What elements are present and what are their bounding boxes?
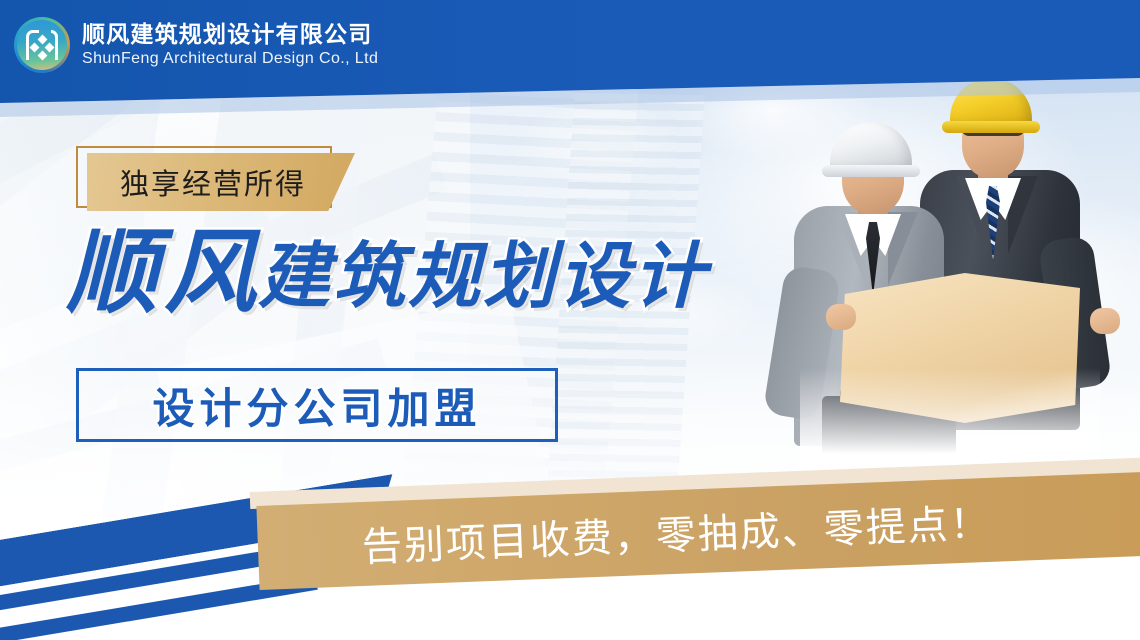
hand [1090,308,1120,334]
headline-primary: 顺风 [66,228,262,318]
brand-text-block: 顺风建筑规划设计有限公司 ShunFeng Architectural Desi… [82,22,378,67]
marketing-banner: 顺风建筑规划设计有限公司 ShunFeng Architectural Desi… [0,0,1140,640]
hand [826,304,856,330]
brand-lockup[interactable]: 顺风建筑规划设计有限公司 ShunFeng Architectural Desi… [14,17,378,73]
bottom-banner-label: 告别项目收费，零抽成、零提点！ [257,491,993,577]
white-hard-hat-icon [830,122,912,172]
tag-label: 独享经营所得 [120,161,322,203]
logo-arch-glyph [26,30,58,60]
tag-body: 独享经营所得 [87,153,355,211]
shunfeng-circular-logo-icon [14,17,70,73]
headline-secondary: 建筑规划设计 [258,240,708,318]
subtitle-label: 设计分公司加盟 [152,375,481,436]
logo-inner-disc [17,20,67,70]
subtitle-box: 设计分公司加盟 [76,368,558,442]
company-name-cn: 顺风建筑规划设计有限公司 [82,23,378,47]
engineers-photo [800,78,1100,478]
company-name-en: ShunFeng Architectural Design Co., Ltd [82,51,378,68]
page-title: 顺风 建筑规划设计 [66,228,708,318]
